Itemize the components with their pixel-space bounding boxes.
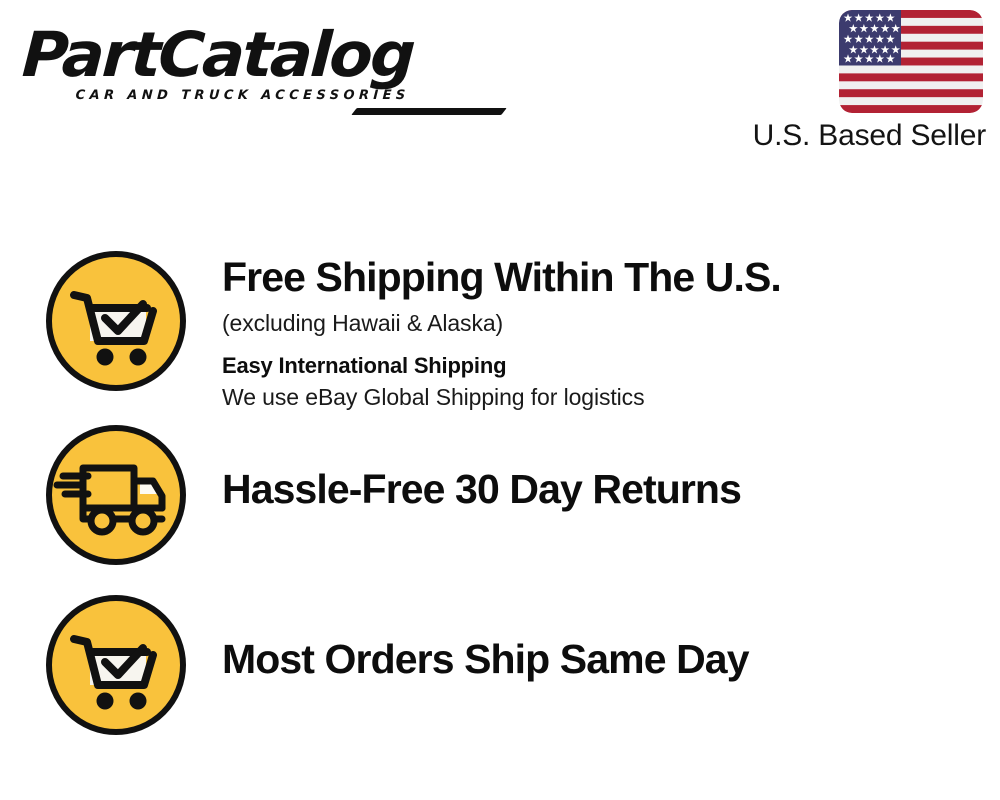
shopping-cart-check-icon: [43, 592, 189, 738]
brand-tagline: CAR AND TRUCK ACCESSORIES: [75, 88, 494, 103]
feature-text: Most Orders Ship Same Day: [189, 592, 1000, 683]
logo-swoosh-decoration: [351, 108, 506, 115]
shopping-cart-check-icon: [43, 248, 189, 394]
feature-text: Free Shipping Within The U.S. (excluding…: [189, 248, 1000, 413]
feature-secondary-title: Easy International Shipping: [222, 351, 1000, 381]
feature-title: Hassle-Free 30 Day Returns: [222, 466, 1000, 513]
brand-logo: PartCatalog CAR AND TRUCK ACCESSORIES: [24, 24, 494, 114]
feature-row: Most Orders Ship Same Day: [0, 592, 1000, 738]
feature-secondary-body: We use eBay Global Shipping for logistic…: [222, 382, 1000, 413]
feature-row: Hassle-Free 30 Day Returns: [0, 422, 1000, 568]
delivery-truck-icon: [43, 422, 189, 568]
us-based-seller-label: U.S. Based Seller: [753, 118, 986, 154]
us-flag-badge: [839, 10, 983, 113]
feature-row: Free Shipping Within The U.S. (excluding…: [0, 248, 1000, 413]
feature-title: Most Orders Ship Same Day: [222, 636, 1000, 683]
shipping-info-banner: PartCatalog CAR AND TRUCK ACCESSORIES: [0, 0, 1000, 800]
feature-title: Free Shipping Within The U.S.: [222, 254, 1000, 301]
feature-subtitle: (excluding Hawaii & Alaska): [222, 307, 1000, 339]
feature-text: Hassle-Free 30 Day Returns: [189, 422, 1000, 513]
us-flag-icon: [839, 10, 983, 113]
brand-name: PartCatalog: [21, 24, 504, 86]
